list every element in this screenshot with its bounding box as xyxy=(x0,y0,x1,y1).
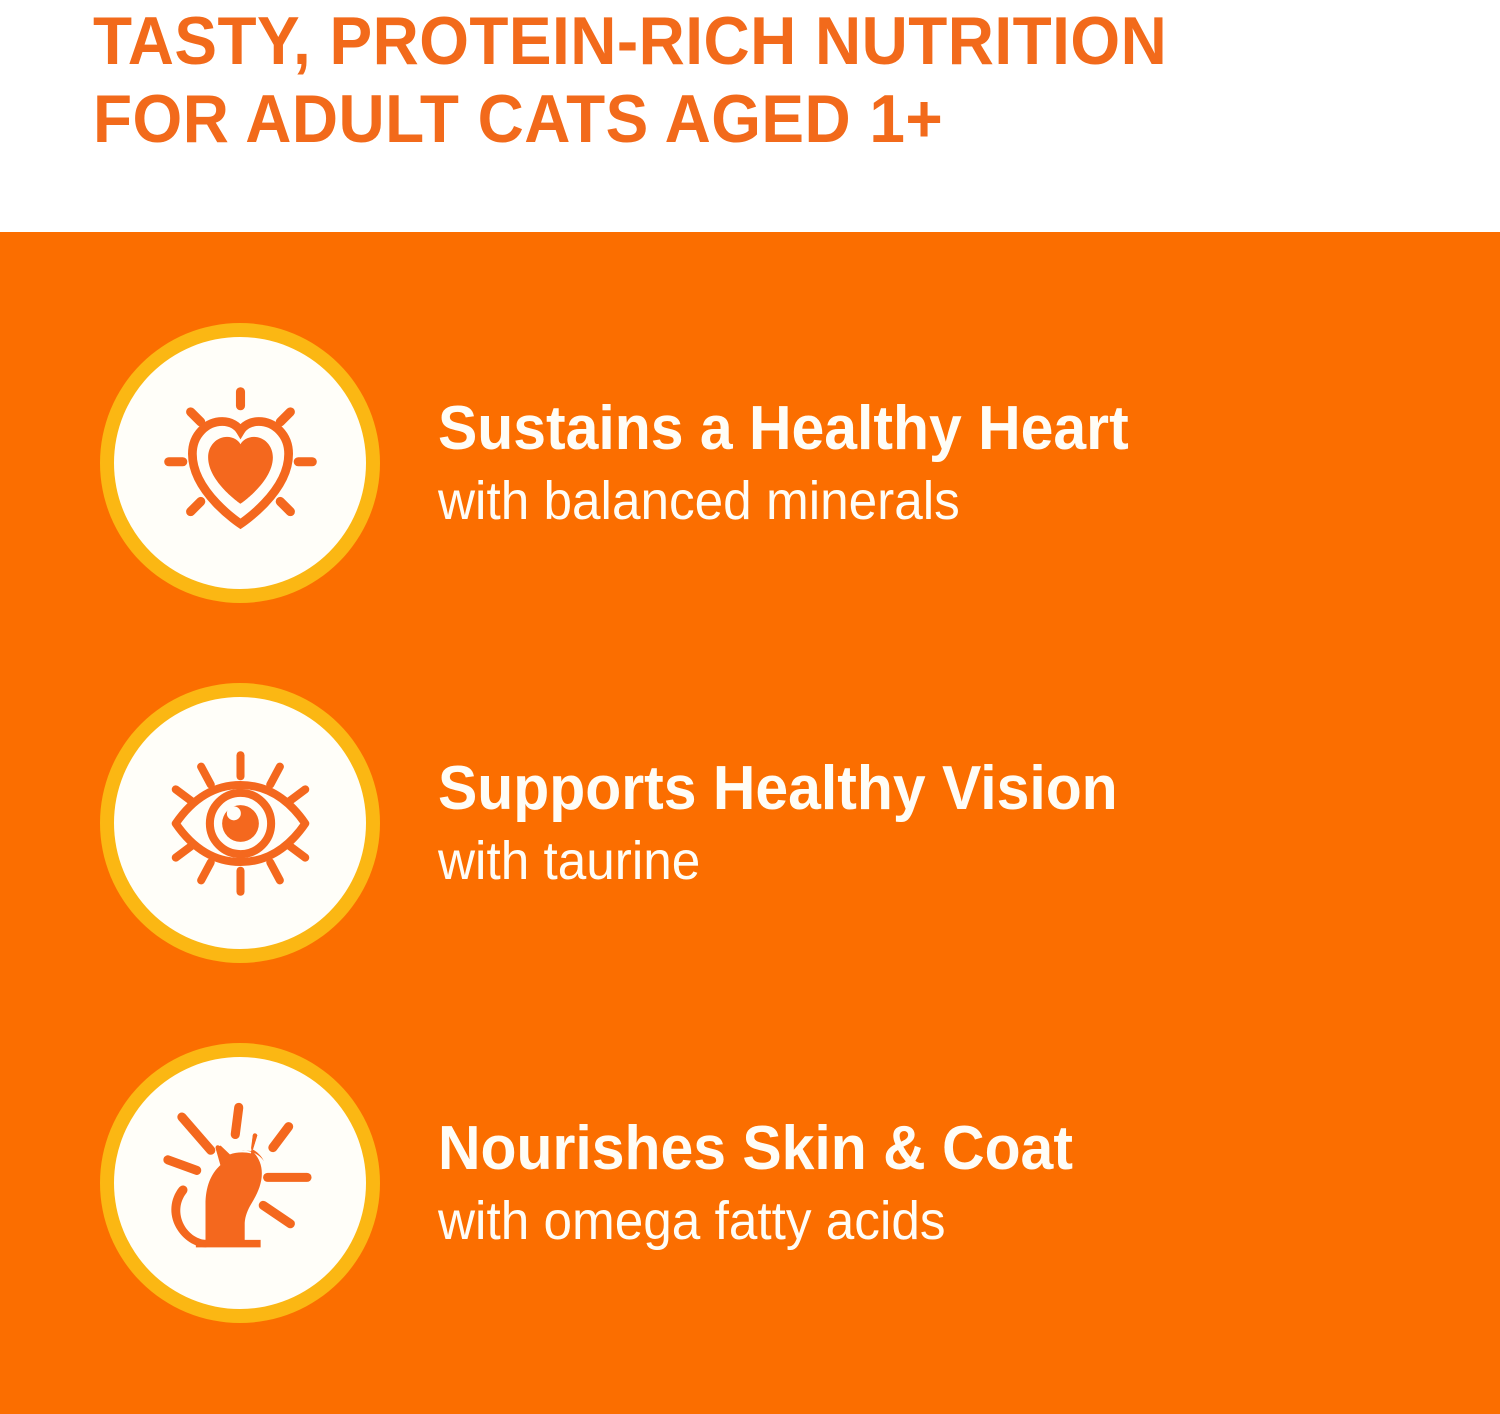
radiant-sitting-cat-icon xyxy=(153,1096,328,1271)
benefit-icon-badge xyxy=(100,1043,380,1323)
benefit-title: Nourishes Skin & Coat xyxy=(438,1114,1073,1184)
benefit-text: Supports Healthy Vision with taurine xyxy=(438,754,1153,892)
benefit-subtitle: with balanced minerals xyxy=(438,470,1129,532)
headline-block: TASTY, PROTEIN-RICH NUTRITION FOR ADULT … xyxy=(93,2,1423,202)
radiant-heart-icon xyxy=(153,376,328,551)
benefit-row: Nourishes Skin & Coat with omega fatty a… xyxy=(0,1038,1500,1328)
benefits-panel: Sustains a Healthy Heart with balanced m… xyxy=(0,232,1500,1414)
benefit-icon-badge xyxy=(100,323,380,603)
benefit-text: Sustains a Healthy Heart with balanced m… xyxy=(438,394,1165,532)
benefit-icon-badge xyxy=(100,683,380,963)
page-title: TASTY, PROTEIN-RICH NUTRITION FOR ADULT … xyxy=(93,2,1343,158)
benefit-text: Nourishes Skin & Coat with omega fatty a… xyxy=(438,1114,1106,1252)
benefit-subtitle: with taurine xyxy=(438,830,1118,892)
benefit-row: Sustains a Healthy Heart with balanced m… xyxy=(0,318,1500,608)
benefit-title: Sustains a Healthy Heart xyxy=(438,394,1129,464)
radiant-eye-icon xyxy=(153,736,328,911)
benefit-title: Supports Healthy Vision xyxy=(438,754,1118,824)
benefit-subtitle: with omega fatty acids xyxy=(438,1190,1073,1252)
benefits-infographic: TASTY, PROTEIN-RICH NUTRITION FOR ADULT … xyxy=(0,0,1500,1414)
benefit-row: Supports Healthy Vision with taurine xyxy=(0,678,1500,968)
